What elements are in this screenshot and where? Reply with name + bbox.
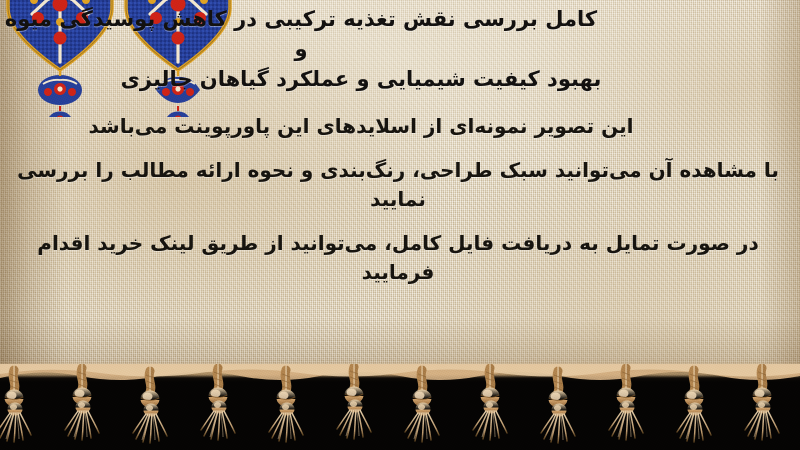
slide-body: این تصویر نمونه‌ای از اسلایدهای این پاور…	[6, 112, 790, 286]
body-line-3: در صورت تمایل به دریافت فایل کامل، می‌تو…	[6, 229, 790, 286]
title-line-2: بهبود کیفیت شیمیایی و عملکرد گیاهان جالی…	[0, 64, 792, 94]
knotted-carpet-fringe	[0, 364, 800, 450]
slide-title: کامل بررسی نقش تغذیه ترکیبی در کاهش پوسی…	[0, 4, 792, 95]
title-line-1: کامل بررسی نقش تغذیه ترکیبی در کاهش پوسی…	[0, 4, 792, 64]
body-line-1: این تصویر نمونه‌ای از اسلایدهای این پاور…	[6, 112, 790, 140]
body-line-2: با مشاهده آن می‌توانید سبک طراحی، رنگ‌بن…	[6, 156, 790, 213]
slide-canvas: کامل بررسی نقش تغذیه ترکیبی در کاهش پوسی…	[0, 0, 800, 450]
